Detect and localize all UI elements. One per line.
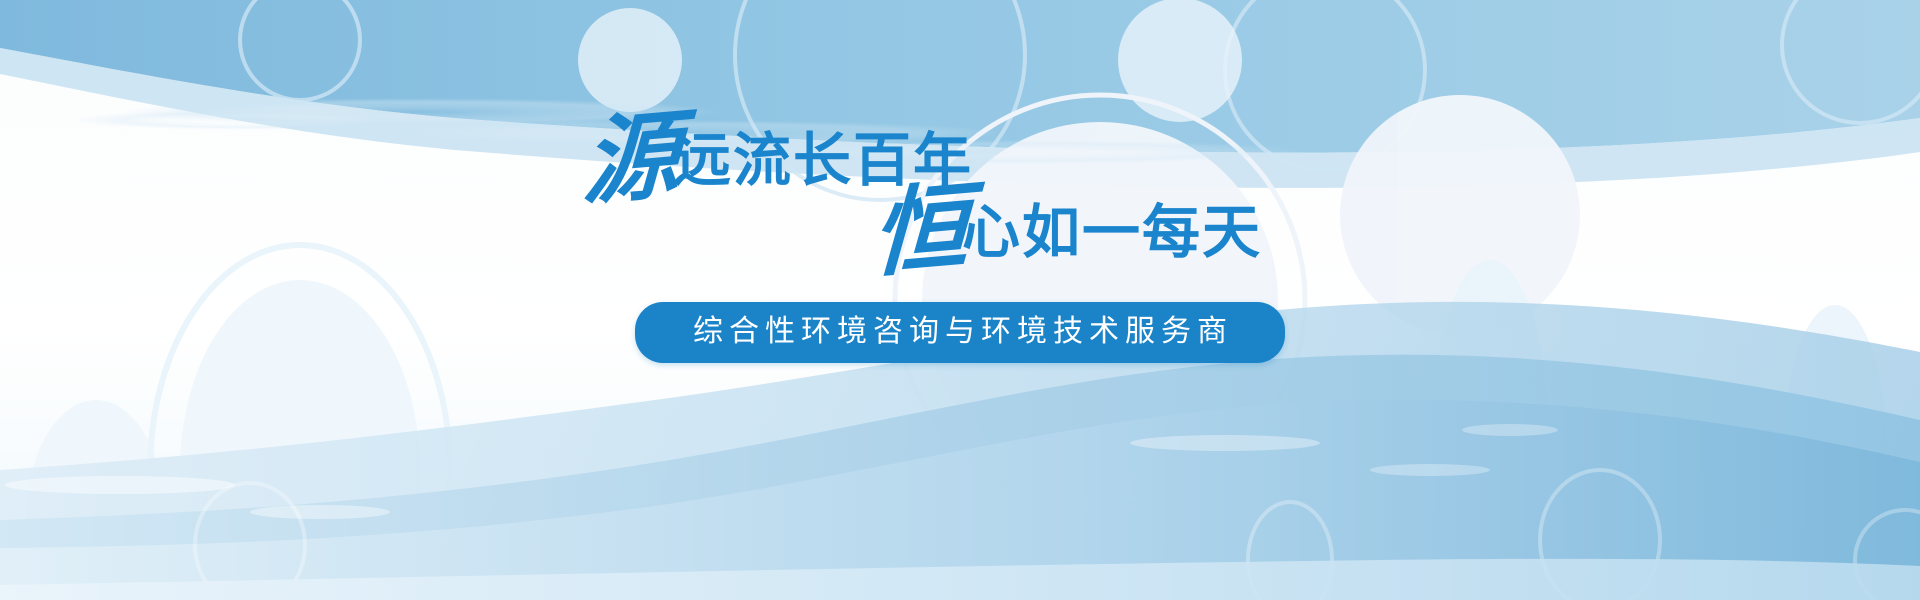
headline-line-2: 恒心如一每天 (872, 182, 1262, 269)
banner-content: 源远流长百年 恒心如一每天 综合性环境咨询与环境技术服务商 (0, 0, 1920, 600)
tagline-container: 综合性环境咨询与环境技术服务商 (0, 302, 1920, 363)
tagline-pill[interactable]: 综合性环境咨询与环境技术服务商 (635, 302, 1285, 363)
headline-line-1-lead-char: 源 (581, 118, 680, 201)
headline-line-2-lead-char: 恒 (870, 190, 969, 273)
headline-line-1-rest: 远流长百年 (673, 113, 973, 197)
headline-line-1: 源远流长百年 (583, 110, 973, 197)
hero-banner: 源远流长百年 恒心如一每天 综合性环境咨询与环境技术服务商 (0, 0, 1920, 600)
headline-line-2-rest: 心如一每天 (962, 185, 1262, 269)
